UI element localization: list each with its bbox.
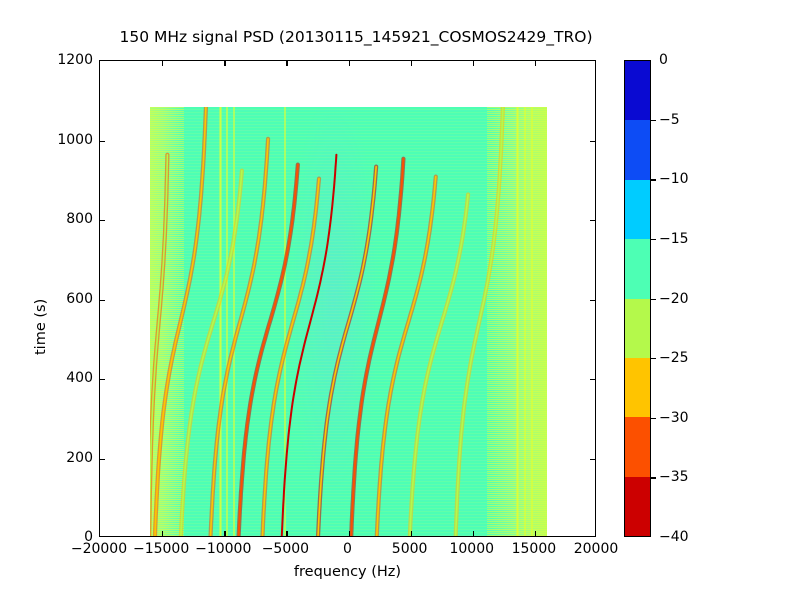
x-tick-label: 10000 [449, 541, 494, 557]
x-tick-top [286, 61, 287, 66]
y-tick-label: 1200 [57, 52, 93, 68]
x-tick [349, 531, 350, 536]
colorbar-tick [651, 239, 656, 240]
colorbar-tick [651, 477, 656, 478]
x-tick [411, 531, 412, 536]
y-tick-right [590, 379, 595, 380]
doppler-trace [281, 154, 336, 536]
doppler-trace [376, 176, 435, 536]
x-tick-top [349, 61, 350, 66]
x-tick-top [224, 61, 225, 66]
y-tick [100, 141, 105, 142]
x-tick [286, 531, 287, 536]
x-axis-label: frequency (Hz) [99, 564, 596, 580]
colorbar-tick [651, 418, 656, 419]
colorbar-band [625, 61, 650, 120]
colorbar-band [625, 180, 650, 239]
x-tick [535, 531, 536, 536]
x-tick-label: 20000 [574, 541, 619, 557]
colorbar-tick-label: −5 [659, 112, 680, 128]
y-tick-right [590, 459, 595, 460]
y-axis-label: time (s) [33, 299, 49, 355]
y-tick [100, 379, 105, 380]
doppler-trace-halo [238, 164, 297, 536]
colorbar-tick-label: −35 [659, 469, 689, 485]
y-tick [100, 300, 105, 301]
colorbar-tick-label: −20 [659, 291, 689, 307]
x-tick-top [411, 61, 412, 66]
x-tick-label: 15000 [512, 541, 557, 557]
colorbar-band [625, 120, 650, 179]
x-tick-top [162, 61, 163, 66]
colorbar-band [625, 299, 650, 358]
y-tick [100, 459, 105, 460]
doppler-trace [455, 107, 502, 536]
y-tick-label: 200 [66, 450, 93, 466]
colorbar-band [625, 239, 650, 298]
colorbar-tick [651, 299, 656, 300]
y-tick-right [590, 300, 595, 301]
doppler-trace [155, 107, 206, 536]
y-tick-label: 0 [84, 529, 93, 545]
doppler-trace [318, 166, 376, 536]
colorbar-band [625, 358, 650, 417]
y-tick-label: 400 [66, 370, 93, 386]
x-tick [162, 531, 163, 536]
colorbar-tick-label: −40 [659, 529, 689, 545]
x-tick-label: −20000 [71, 541, 127, 557]
colorbar-tick [651, 358, 656, 359]
x-tick-label: −10000 [195, 541, 251, 557]
x-tick-top [473, 61, 474, 66]
colorbar-tick-label: 0 [659, 52, 668, 68]
y-tick-label: 1000 [57, 132, 93, 148]
y-tick-right [590, 220, 595, 221]
colorbar-tick [651, 120, 656, 121]
doppler-trace [351, 158, 403, 536]
colorbar-tick [651, 179, 656, 180]
colorbar [624, 60, 651, 537]
y-tick-label: 600 [66, 291, 93, 307]
doppler-trace-halo [318, 166, 376, 536]
spectrogram-image [150, 107, 548, 536]
plot-axes [99, 60, 596, 537]
x-tick-label: 0 [343, 541, 352, 557]
doppler-trace-halo [281, 154, 336, 536]
colorbar-tick-label: −10 [659, 171, 689, 187]
colorbar-tick-label: −15 [659, 231, 689, 247]
x-tick [224, 531, 225, 536]
doppler-trace-halo [351, 158, 403, 536]
y-tick [100, 220, 105, 221]
doppler-traces [150, 107, 548, 536]
figure-canvas: 150 MHz signal PSD (20130115_145921_COSM… [0, 0, 800, 600]
doppler-trace-halo [376, 176, 435, 536]
x-tick-label: −15000 [133, 541, 189, 557]
x-tick-top [535, 61, 536, 66]
chart-title: 150 MHz signal PSD (20130115_145921_COSM… [0, 28, 712, 46]
plot-clip [100, 61, 595, 536]
colorbar-band [625, 417, 650, 476]
doppler-trace [238, 164, 297, 536]
y-tick-label: 800 [66, 211, 93, 227]
y-tick-right [590, 141, 595, 142]
x-tick-label: 5000 [392, 541, 428, 557]
x-tick-label: −5000 [262, 541, 309, 557]
x-tick [473, 531, 474, 536]
colorbar-tick-label: −25 [659, 350, 689, 366]
colorbar-band [625, 477, 650, 536]
colorbar-tick-label: −30 [659, 410, 689, 426]
